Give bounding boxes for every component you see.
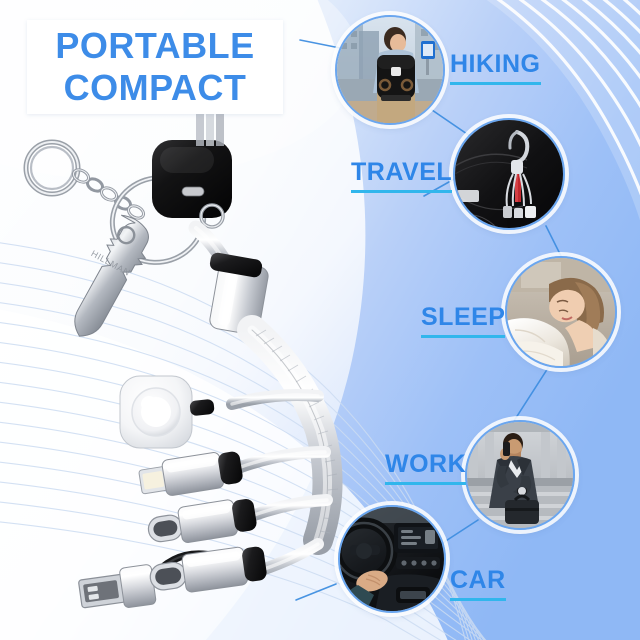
- scene-label-sleep-text: SLEEP: [421, 303, 505, 331]
- headline-line-2: COMPACT: [64, 70, 247, 106]
- scene-photo-hiking: [335, 15, 445, 125]
- scene-label-underline: [385, 482, 466, 485]
- scene-label-underline: [450, 598, 506, 601]
- scene-label-travel: TRAVEL: [351, 160, 452, 198]
- scene-photo-travel: [453, 118, 565, 230]
- scene-photo-work: [465, 420, 575, 530]
- scene-photo-car: [338, 505, 446, 613]
- marketing-image: HILLMAN: [0, 0, 640, 640]
- scene-photo-sleep: [505, 256, 617, 368]
- scene-label-underline: [351, 190, 452, 193]
- scene-label-hiking-text: HIKING: [450, 50, 541, 78]
- scene-label-work-text: WORK: [385, 450, 466, 478]
- scene-label-underline: [450, 82, 541, 85]
- scene-label-car-text: CAR: [450, 566, 506, 594]
- house-key: HILLMAN: [54, 209, 160, 346]
- connector-usb-c: [146, 496, 258, 548]
- scene-label-underline: [421, 335, 505, 338]
- connector-usb-a-combo: [78, 544, 268, 614]
- headline-panel: PORTABLE COMPACT: [27, 20, 283, 114]
- leather-fob: [152, 140, 232, 227]
- key-chain: [71, 167, 145, 220]
- chain-highlight: [71, 167, 145, 220]
- scene-label-work: WORK: [385, 452, 466, 490]
- headline-line-1: PORTABLE: [55, 28, 254, 64]
- scene-label-sleep: SLEEP: [421, 305, 505, 343]
- scene-label-hiking: HIKING: [450, 52, 541, 90]
- scene-label-travel-text: TRAVEL: [351, 158, 452, 186]
- connector-lightning: [138, 449, 244, 501]
- scene-label-car: CAR: [450, 568, 506, 606]
- key-ring: [26, 142, 78, 194]
- connector-watch-charger: [120, 376, 215, 448]
